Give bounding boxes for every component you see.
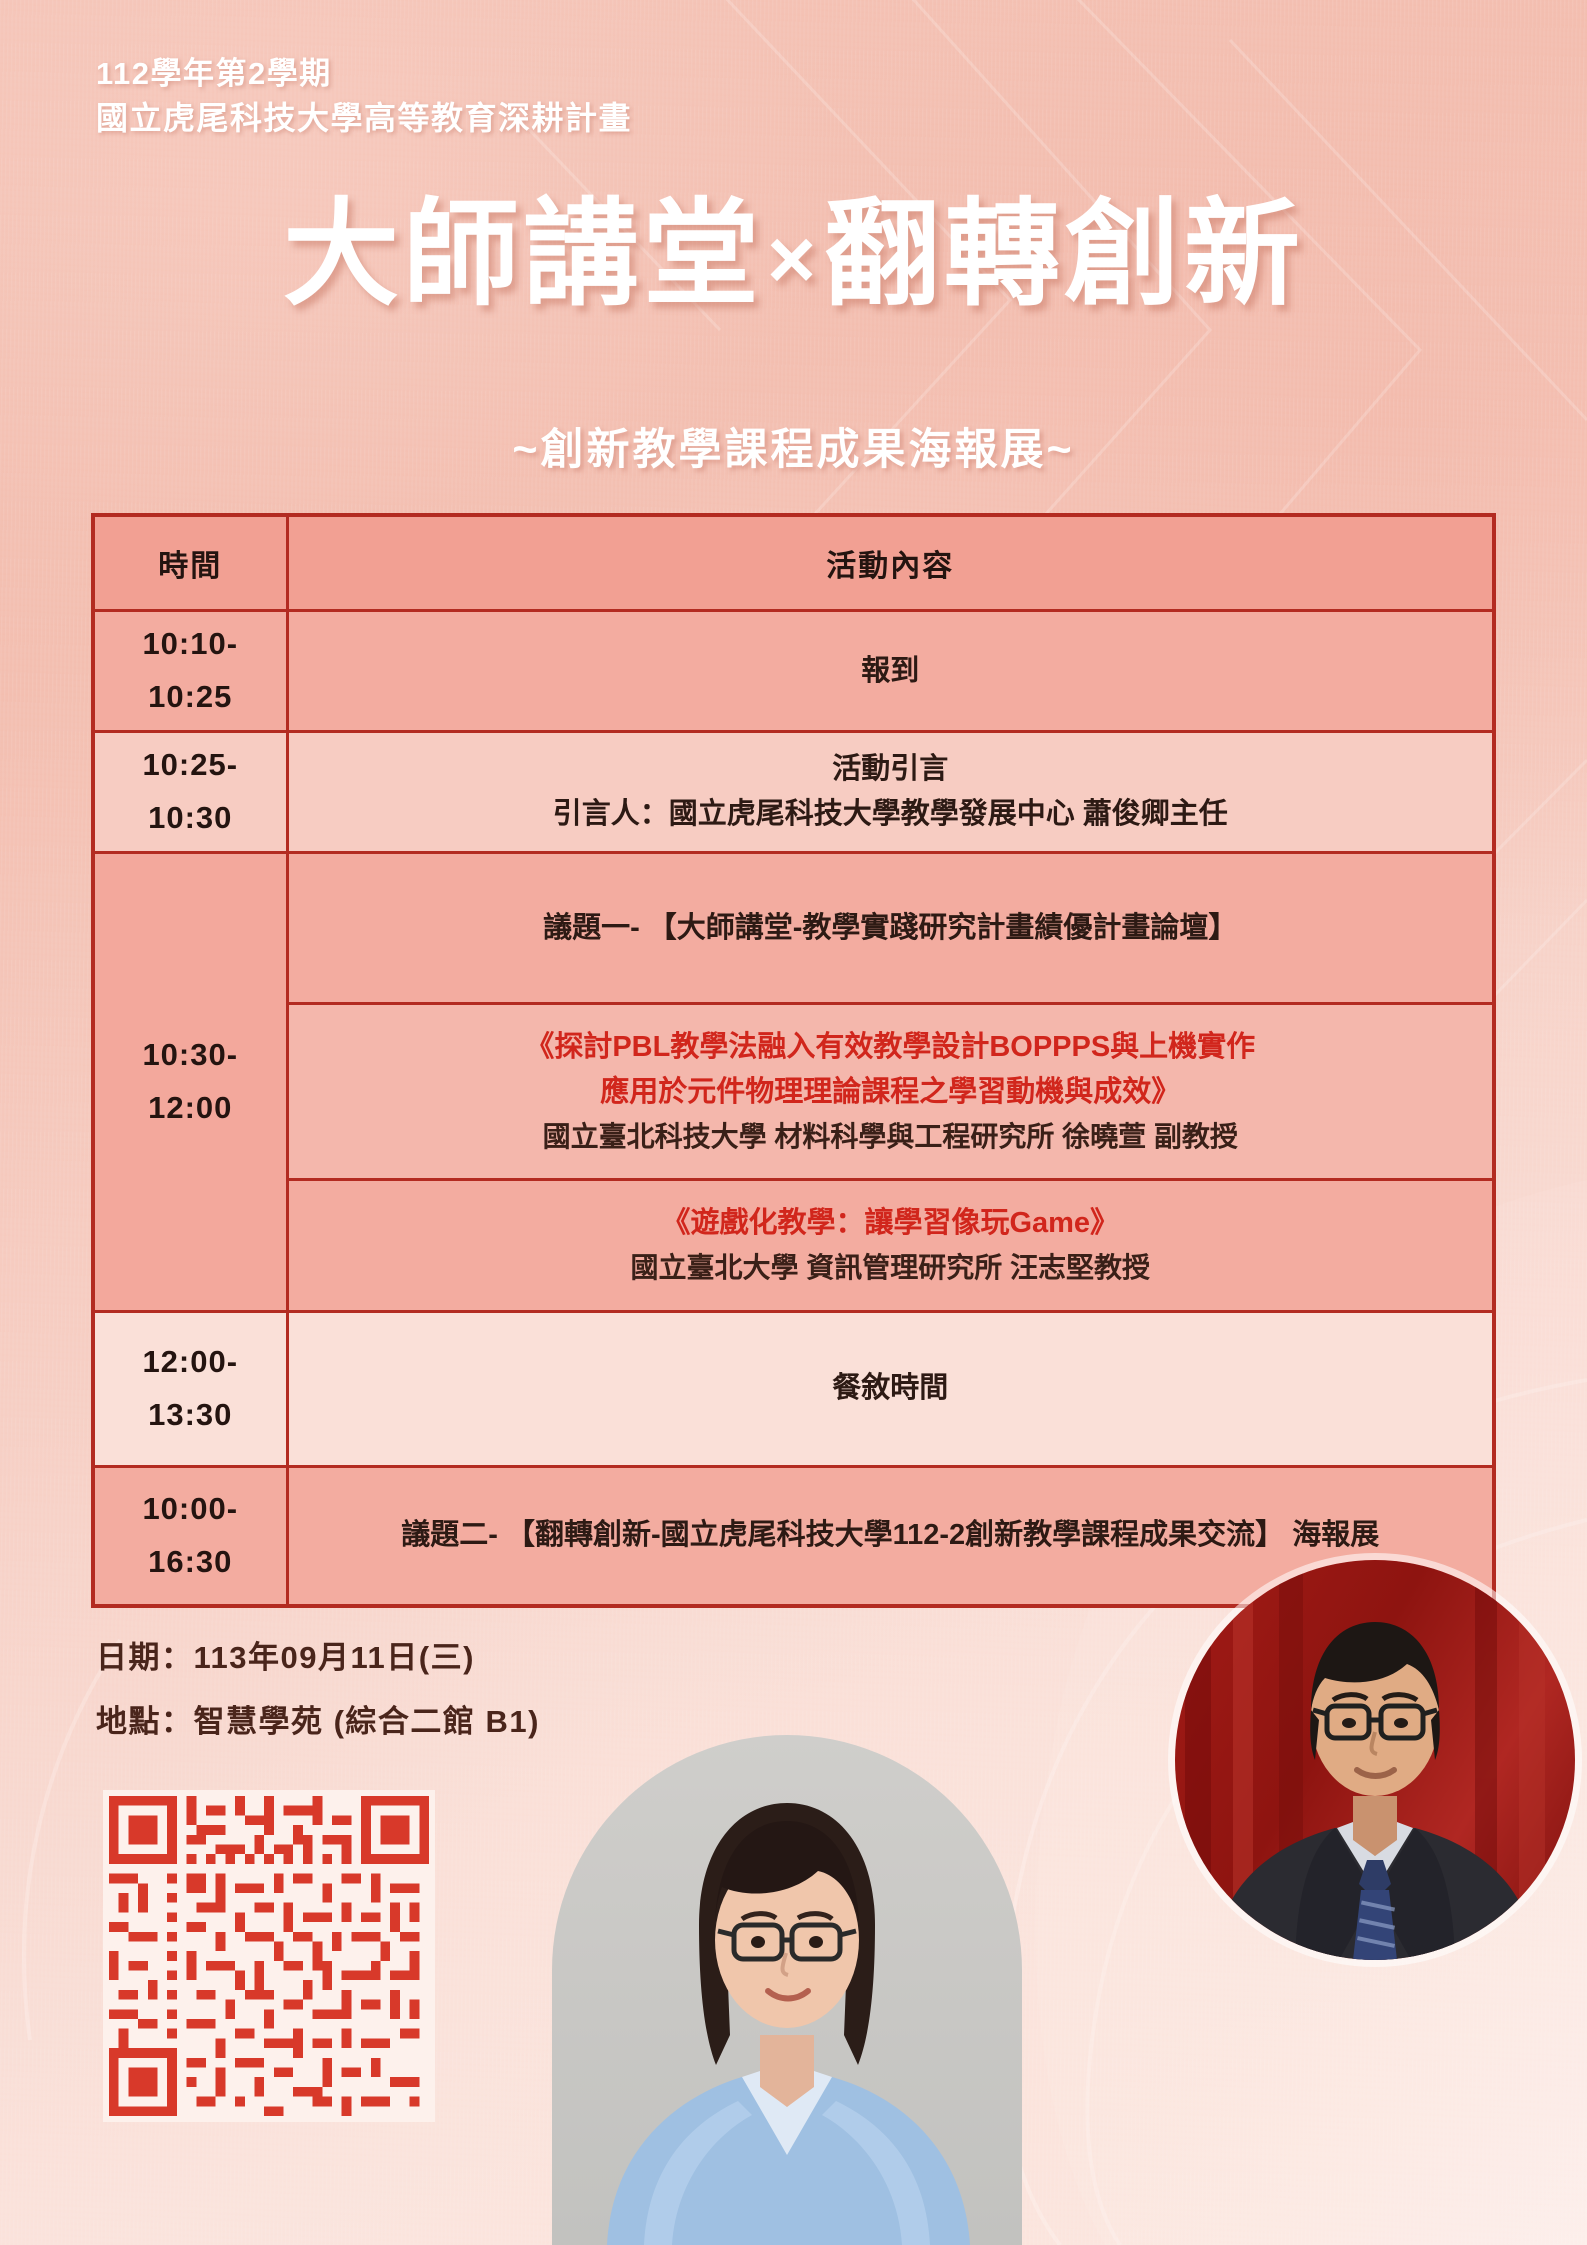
session-talk-2: 《遊戲化教學：讓學習像玩Game》 國立臺北大學 資訊管理研究所 汪志堅教授 bbox=[289, 1180, 1493, 1310]
activity-line: 餐敘時間 bbox=[289, 1366, 1493, 1411]
title-left: 大師講堂 bbox=[283, 189, 763, 319]
event-venue: 地點：智慧學苑 (綜合二館 B1) bbox=[96, 1690, 540, 1754]
table-row: 12:00- 13:30 餐敘時間 bbox=[93, 1311, 1494, 1466]
cell-activity: 活動引言 引言人：國立虎尾科技大學教學發展中心 蕭俊卿主任 bbox=[287, 732, 1494, 853]
cell-activity: 報到 bbox=[287, 611, 1494, 732]
column-header-activity: 活動內容 bbox=[287, 515, 1494, 611]
talk-speaker: 國立臺北科技大學 材料科學與工程研究所 徐曉萱 副教授 bbox=[301, 1115, 1481, 1158]
table-row: 10:30- 12:00 議題一- 【大師講堂-教學實踐研究計畫績優計畫論壇】 … bbox=[93, 853, 1494, 1312]
activity-line: 議題二- 【翻轉創新-國立虎尾科技大學112-2創新教學課程成果交流】 海報展 bbox=[289, 1513, 1493, 1558]
time-end: 10:30 bbox=[95, 792, 286, 845]
qr-code[interactable] bbox=[103, 1790, 435, 2122]
time-end: 13:30 bbox=[95, 1389, 286, 1442]
time-end: 10:25 bbox=[95, 671, 286, 724]
cell-time: 10:00- 16:30 bbox=[93, 1466, 287, 1606]
cell-activity: 餐敘時間 bbox=[287, 1311, 1494, 1466]
activity-line: 引言人：國立虎尾科技大學教學發展中心 蕭俊卿主任 bbox=[289, 792, 1493, 837]
activity-line: 活動引言 bbox=[289, 747, 1493, 792]
title-right: 翻轉創新 bbox=[824, 189, 1304, 319]
time-end: 16:30 bbox=[95, 1536, 286, 1589]
session-block: 《遊戲化教學：讓學習像玩Game》 國立臺北大學 資訊管理研究所 汪志堅教授 bbox=[289, 1180, 1493, 1310]
activity-line: 議題一- 【大師講堂-教學實踐研究計畫績優計畫論壇】 bbox=[301, 906, 1481, 951]
program-kicker: 112學年第2學期 國立虎尾科技大學高等教育深耕計畫 bbox=[96, 52, 632, 141]
time-start: 10:10- bbox=[95, 618, 286, 671]
time-start: 10:00- bbox=[95, 1483, 286, 1536]
schedule-table: 時間 活動內容 10:10- 10:25 報到 10:25- 10:30 bbox=[91, 513, 1496, 1608]
session-block: 議題一- 【大師講堂-教學實踐研究計畫績優計畫論壇】 bbox=[289, 854, 1493, 1004]
speaker-photo-male bbox=[1175, 1560, 1575, 1960]
cell-time: 10:25- 10:30 bbox=[93, 732, 287, 853]
table-row: 10:10- 10:25 報到 bbox=[93, 611, 1494, 732]
activity-line: 報到 bbox=[289, 649, 1493, 694]
cell-time: 10:30- 12:00 bbox=[93, 853, 287, 1312]
time-end: 12:00 bbox=[95, 1082, 286, 1135]
table-header-row: 時間 活動內容 bbox=[93, 515, 1494, 611]
page-title: 大師講堂×翻轉創新 bbox=[0, 160, 1587, 328]
session-talk-1: 《探討PBL教學法融入有效教學設計BOPPPS與上機實作 應用於元件物理理論課程… bbox=[289, 1004, 1493, 1180]
talk-title-line: 應用於元件物理理論課程之學習動機與成效》 bbox=[301, 1070, 1481, 1115]
title-cross-symbol: × bbox=[763, 212, 824, 306]
time-start: 10:30- bbox=[95, 1029, 286, 1082]
event-date: 日期：113年09月11日(三) bbox=[96, 1626, 540, 1690]
kicker-line-2: 國立虎尾科技大學高等教育深耕計畫 bbox=[96, 96, 632, 141]
time-start: 10:25- bbox=[95, 739, 286, 792]
speaker-photo-female bbox=[552, 1735, 1022, 2245]
cell-time: 10:10- 10:25 bbox=[93, 611, 287, 732]
session-block-list: 議題一- 【大師講堂-教學實踐研究計畫績優計畫論壇】 《探討PBL教學法融入有效… bbox=[289, 854, 1493, 1310]
page-subtitle: ~創新教學課程成果海報展~ bbox=[0, 415, 1587, 477]
photo-figure-male bbox=[1175, 1560, 1575, 1960]
column-header-time: 時間 bbox=[93, 515, 287, 611]
kicker-line-1: 112學年第2學期 bbox=[96, 52, 632, 96]
cell-activity: 議題一- 【大師講堂-教學實踐研究計畫績優計畫論壇】 《探討PBL教學法融入有效… bbox=[287, 853, 1494, 1312]
qr-code-icon[interactable] bbox=[109, 1796, 429, 2116]
time-start: 12:00- bbox=[95, 1336, 286, 1389]
session-heading: 議題一- 【大師講堂-教學實踐研究計畫績優計畫論壇】 bbox=[289, 854, 1493, 1004]
event-details: 日期：113年09月11日(三) 地點：智慧學苑 (綜合二館 B1) bbox=[96, 1626, 540, 1753]
poster-canvas: 112學年第2學期 國立虎尾科技大學高等教育深耕計畫 大師講堂×翻轉創新 ~創新… bbox=[0, 0, 1587, 2245]
talk-speaker: 國立臺北大學 資訊管理研究所 汪志堅教授 bbox=[301, 1246, 1481, 1289]
session-block: 《探討PBL教學法融入有效教學設計BOPPPS與上機實作 應用於元件物理理論課程… bbox=[289, 1004, 1493, 1180]
talk-title-line: 《探討PBL教學法融入有效教學設計BOPPPS與上機實作 bbox=[301, 1025, 1481, 1070]
photo-figure-female bbox=[552, 1735, 1022, 2245]
table-row: 10:25- 10:30 活動引言 引言人：國立虎尾科技大學教學發展中心 蕭俊卿… bbox=[93, 732, 1494, 853]
talk-title-line: 《遊戲化教學：讓學習像玩Game》 bbox=[301, 1201, 1481, 1246]
cell-time: 12:00- 13:30 bbox=[93, 1311, 287, 1466]
